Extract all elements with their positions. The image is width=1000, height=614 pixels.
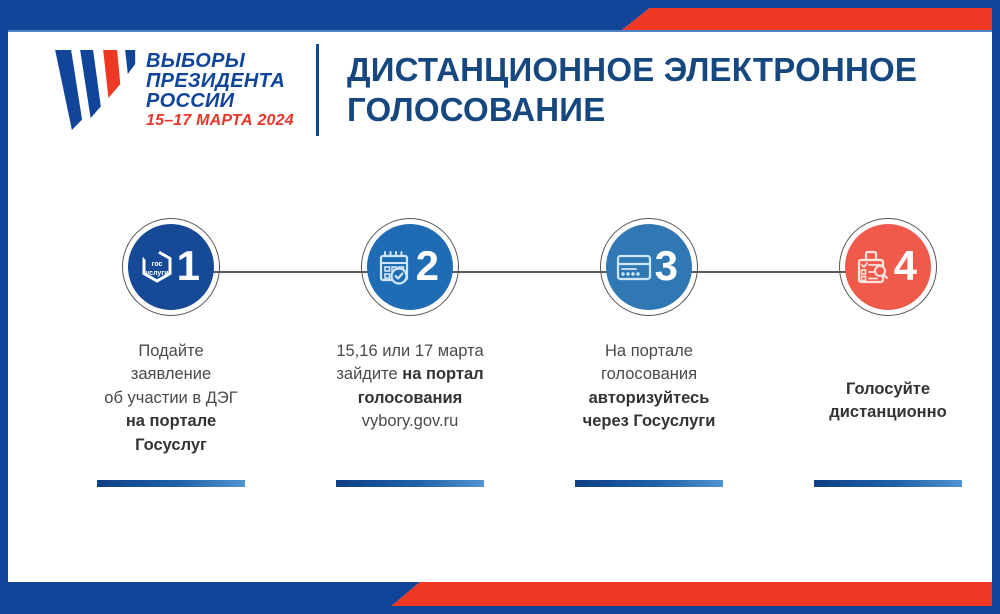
- step-2-line-1: 15,16 или 17 марта: [295, 340, 525, 363]
- step-1-line-5: Госуслуг: [135, 436, 207, 454]
- poster-header: ВЫБОРЫ ПРЕЗИДЕНТА РОССИИ 15–17 МАРТА 202…: [48, 30, 952, 150]
- step-4-text: Голосуйте дистанционно: [773, 378, 1000, 425]
- step-4-circle-fill: 4: [845, 224, 931, 310]
- step-3: 3 На портале голосования авторизуйтесь ч…: [534, 218, 764, 434]
- step-1-text: Подайте заявление об участии в ДЭГ на по…: [56, 340, 286, 457]
- page-title-line-1: ДИСТАНЦИОННОЕ ЭЛЕКТРОННОЕ: [347, 50, 917, 90]
- logo-line-1: ВЫБОРЫ: [146, 51, 294, 71]
- step-3-number: 3: [655, 245, 678, 287]
- election-logo: ВЫБОРЫ ПРЕЗИДЕНТА РОССИИ 15–17 МАРТА 202…: [48, 34, 298, 146]
- step-1-underline-bar: [97, 480, 245, 487]
- step-3-circle: 3: [600, 218, 698, 316]
- header-divider: [316, 44, 319, 136]
- step-3-line-2: голосования: [534, 363, 764, 386]
- svg-text:гос: гос: [152, 261, 163, 268]
- step-2-line-3: голосования: [358, 389, 463, 407]
- step-1-circle: гос услуги 1: [122, 218, 220, 316]
- top-tricolor-strip: [0, 0, 1000, 30]
- step-1-line-4: на портале: [126, 412, 216, 430]
- step-1-line-2: заявление: [56, 363, 286, 386]
- step-1-line-3: об участии в ДЭГ: [56, 387, 286, 410]
- step-1-line-1: Подайте: [56, 340, 286, 363]
- step-3-circle-fill: 3: [606, 224, 692, 310]
- step-2-circle-fill: 2: [367, 224, 453, 310]
- step-4-line-2: дистанционно: [829, 403, 946, 421]
- step-1-circle-fill: гос услуги 1: [128, 224, 214, 310]
- top-strip-shape: [0, 0, 1000, 30]
- step-2-number: 2: [416, 245, 439, 287]
- step-2-circle: 2: [361, 218, 459, 316]
- step-2-line-2-bold: на портал: [402, 365, 483, 383]
- logo-line-2: ПРЕЗИДЕНТА: [146, 71, 294, 91]
- step-4: 4 Голосуйте дистанционно: [773, 218, 1000, 425]
- step-3-line-4: через Госуслуги: [583, 412, 716, 430]
- step-4-circle: 4: [839, 218, 937, 316]
- step-2-text: 15,16 или 17 марта зайдите на портал гол…: [295, 340, 525, 434]
- step-3-line-1: На портале: [534, 340, 764, 363]
- step-3-underline-bar: [575, 480, 723, 487]
- step-4-number: 4: [894, 245, 917, 287]
- step-1-number: 1: [177, 245, 200, 287]
- gosuslugi-logo-icon: гос услуги: [138, 248, 176, 286]
- card-password-shape: [616, 248, 654, 286]
- gosuslugi-mark-shape: гос услуги: [138, 248, 176, 286]
- logo-line-3: РОССИИ: [146, 91, 294, 111]
- poster-root: ВЫБОРЫ ПРЕЗИДЕНТА РОССИИ 15–17 МАРТА 202…: [0, 0, 1000, 614]
- bottom-strip-shape: [0, 582, 1000, 614]
- step-2: 2 15,16 или 17 марта зайдите на портал г…: [295, 218, 525, 434]
- calendar-check-shape: [377, 248, 415, 286]
- russia-v-tricolor-logo-icon: [48, 44, 140, 136]
- step-4-line-1: Голосуйте: [846, 380, 930, 398]
- page-title: ДИСТАНЦИОННОЕ ЭЛЕКТРОННОЕ ГОЛОСОВАНИЕ: [347, 50, 917, 131]
- election-logo-text: ВЫБОРЫ ПРЕЗИДЕНТА РОССИИ 15–17 МАРТА 202…: [146, 51, 294, 129]
- v-mark-shape: [48, 44, 140, 136]
- calendar-check-icon: [377, 248, 415, 286]
- step-2-line-4: vybory.gov.ru: [295, 410, 525, 433]
- step-2-underline-bar: [336, 480, 484, 487]
- svg-text:услуги: услуги: [145, 270, 168, 277]
- step-3-line-3: авторизуйтесь: [589, 389, 710, 407]
- page-title-line-2: ГОЛОСОВАНИЕ: [347, 90, 917, 130]
- step-4-underline-bar: [814, 480, 962, 487]
- step-1: гос услуги 1 Подайте заявление об участи…: [56, 218, 286, 457]
- step-2-line-2: зайдите: [336, 365, 402, 383]
- ballot-box-shape: [855, 248, 893, 286]
- card-password-icon: [616, 248, 654, 286]
- ballot-box-vote-icon: [855, 248, 893, 286]
- logo-dates: 15–17 МАРТА 2024: [146, 113, 294, 129]
- steps-container: гос услуги 1 Подайте заявление об участи…: [40, 218, 960, 498]
- step-3-text: На портале голосования авторизуйтесь чер…: [534, 340, 764, 434]
- bottom-tricolor-strip: [0, 582, 1000, 614]
